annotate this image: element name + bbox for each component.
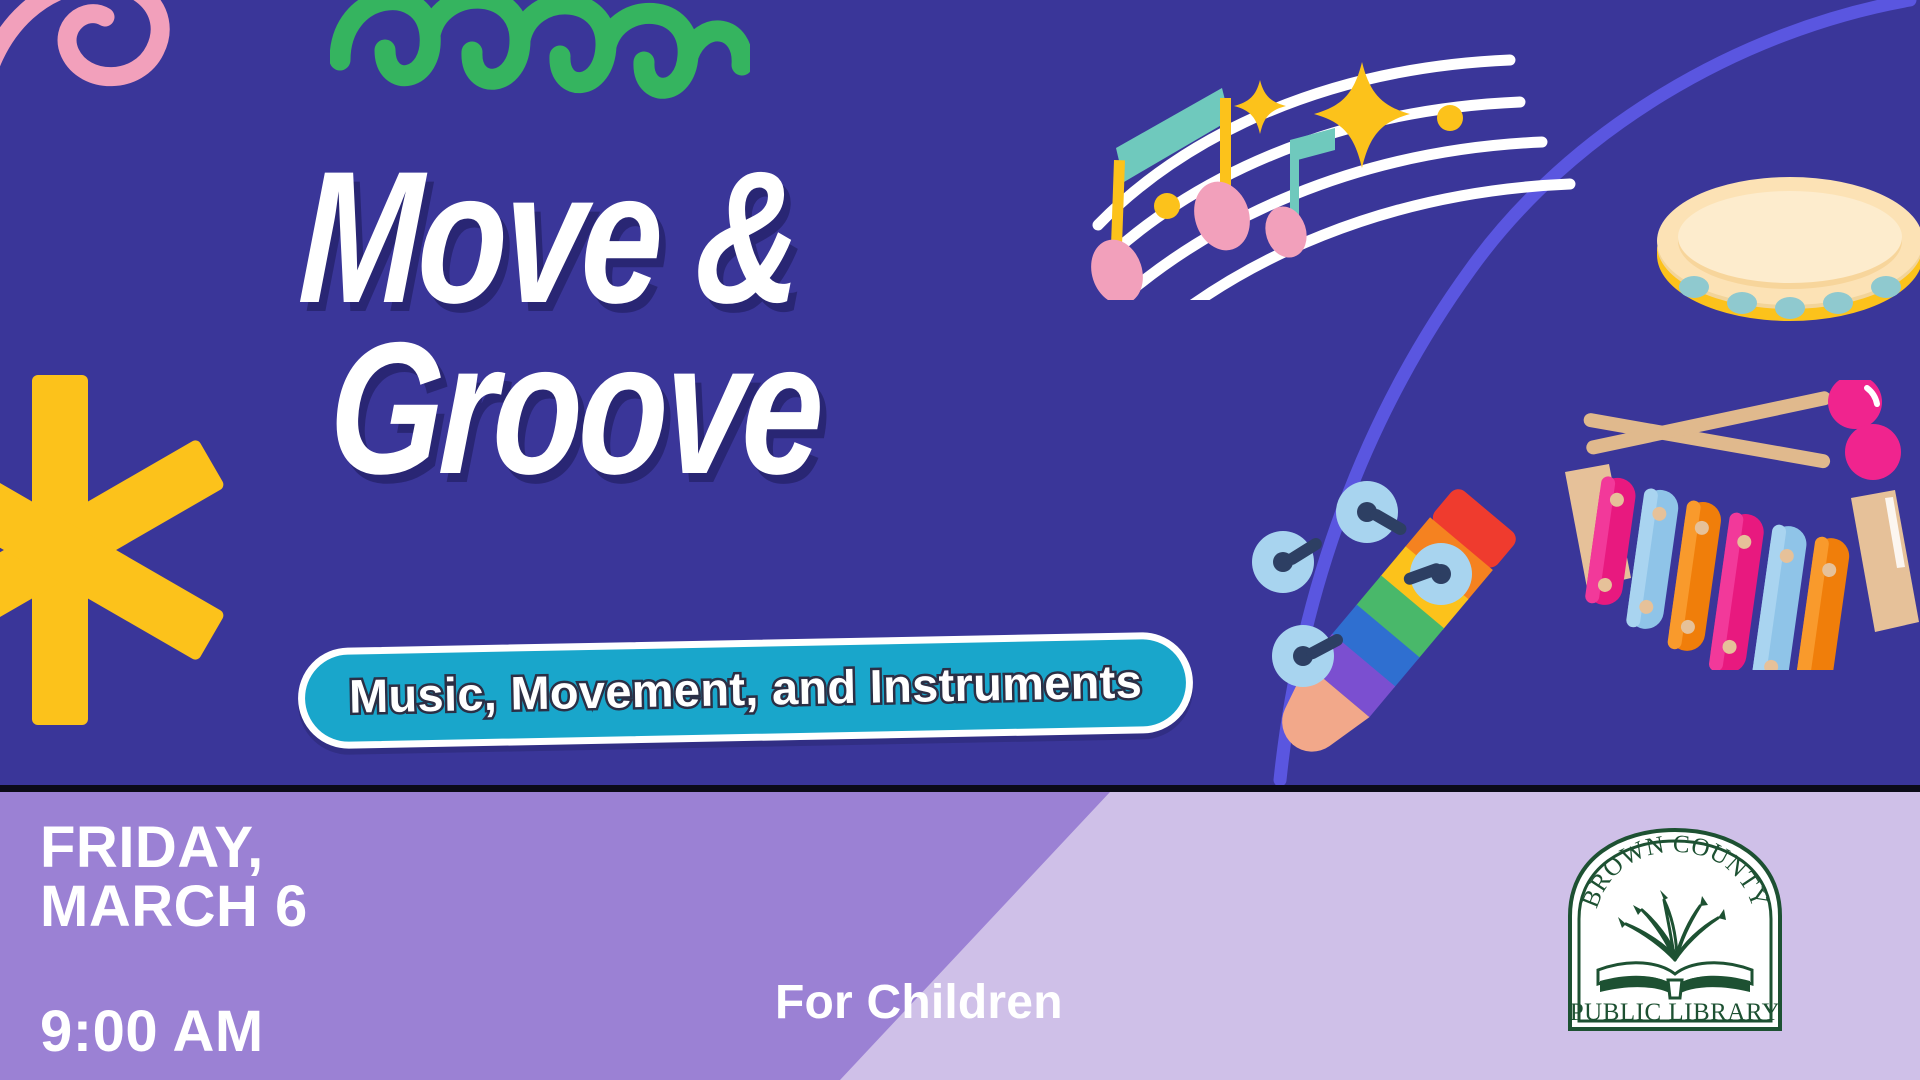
pink-spiral-decoration — [0, 0, 250, 175]
subtitle-pill: Music, Movement, and Instruments — [297, 631, 1194, 749]
event-time: 9:00 AM — [40, 998, 308, 1065]
rainbow-shaker-illustration — [1245, 470, 1555, 770]
green-squiggle-decoration — [330, 0, 750, 130]
poster-title: Move & Groove — [300, 155, 1060, 492]
xylophone-illustration — [1555, 380, 1920, 670]
event-datetime-block: FRIDAY, MARCH 6 9:00 AM — [40, 818, 308, 1065]
title-line-two: Groove — [327, 326, 903, 491]
event-date-line-one: FRIDAY, — [40, 818, 308, 877]
logo-bottom-text: PUBLIC LIBRARY — [1570, 999, 1781, 1026]
yellow-asterisk-decoration — [0, 370, 240, 730]
library-logo: BROWN COUNTY PUBLIC LIBRARY — [1560, 824, 1790, 1039]
subtitle-text: Music, Movement, and Instruments — [349, 653, 1143, 723]
subtitle-pill-body: Music, Movement, and Instruments — [297, 631, 1194, 749]
tambourine-illustration — [1650, 175, 1920, 335]
title-line-one: Move & — [297, 155, 897, 320]
library-logo-emblem: BROWN COUNTY PUBLIC LIBRARY — [1560, 824, 1790, 1039]
event-audience: For Children — [775, 975, 1063, 1030]
event-date-line-two: MARCH 6 — [40, 877, 308, 936]
poster-top-panel: Move & Groove Music, Movement, and Instr… — [0, 0, 1920, 785]
panel-divider — [0, 785, 1920, 792]
poster-bottom-panel: FRIDAY, MARCH 6 9:00 AM For Children BRO… — [0, 792, 1920, 1080]
event-poster: Move & Groove Music, Movement, and Instr… — [0, 0, 1920, 1080]
music-staff-notes-illustration — [1090, 10, 1610, 300]
